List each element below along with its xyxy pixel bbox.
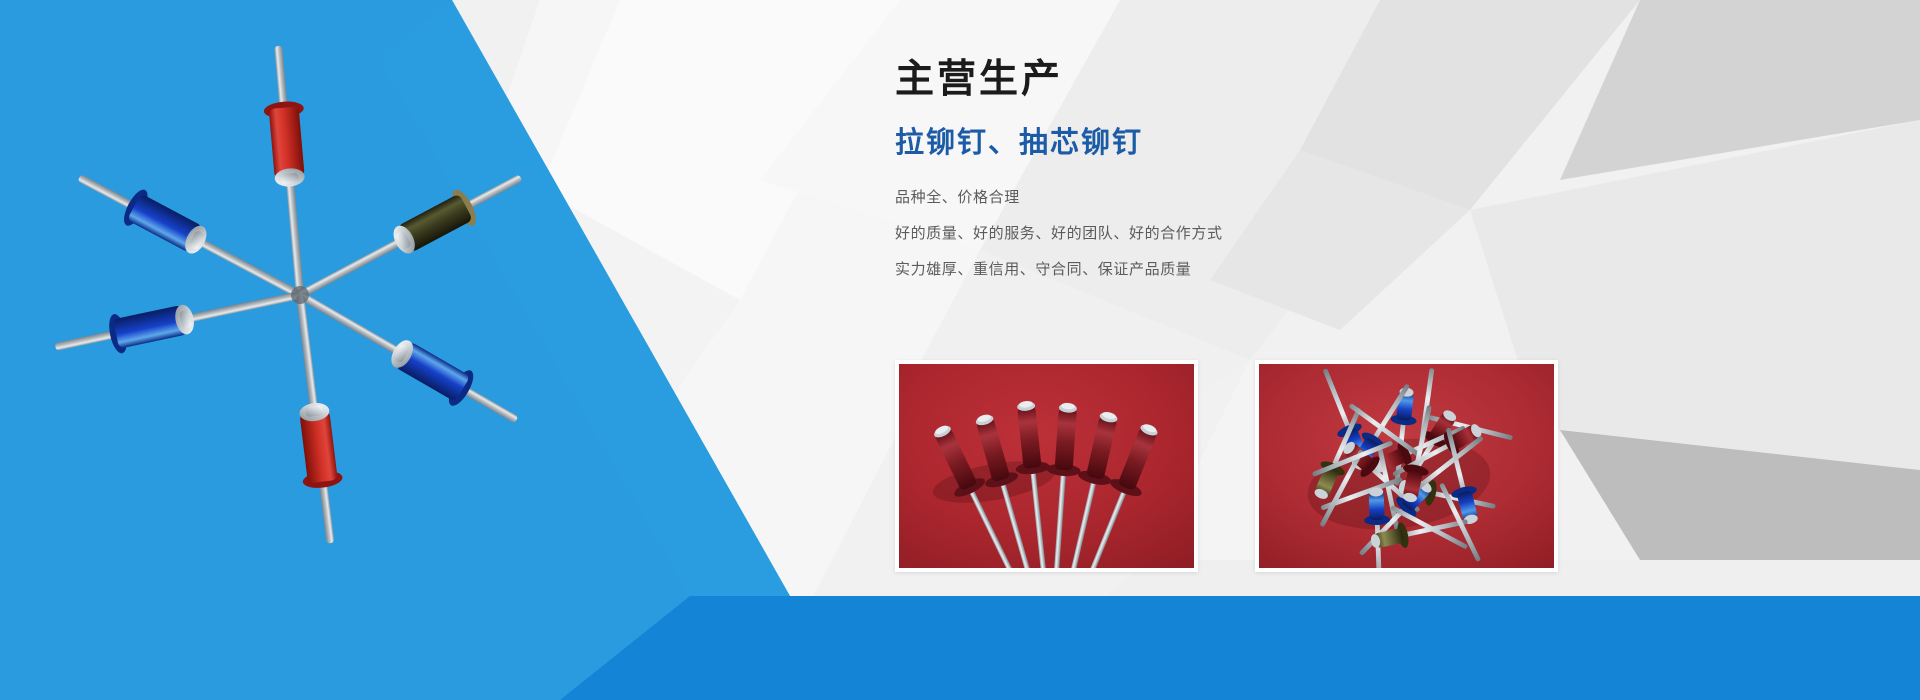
rivet-starburst-photo bbox=[0, 0, 700, 620]
rivet-top-red bbox=[258, 44, 320, 297]
banner-bullet-list: 品种全、价格合理 好的质量、好的服务、好的团队、好的合作方式 实力雄厚、重信用、… bbox=[895, 190, 1655, 277]
rivet-bottom-red bbox=[280, 293, 350, 546]
rivet-upper-left-blue bbox=[70, 160, 310, 313]
product-photo-mixed-rivets[interactable] bbox=[1255, 360, 1558, 572]
banner-headline: 主营生产 bbox=[895, 58, 1655, 103]
rivet-lower-left-blue bbox=[51, 275, 304, 366]
bullet-item-3: 实力雄厚、重信用、守合同、保证产品质量 bbox=[895, 262, 1655, 277]
photo-1-frame bbox=[899, 364, 1194, 568]
rivet-upper-right-olive bbox=[291, 160, 531, 313]
product-photo-red-rivets[interactable] bbox=[895, 360, 1198, 572]
photo-2-frame bbox=[1259, 364, 1554, 568]
banner-copy: 主营生产 拉铆钉、抽芯铆钉 品种全、价格合理 好的质量、好的服务、好的团队、好的… bbox=[895, 58, 1655, 298]
banner-subheadline: 拉铆钉、抽芯铆钉 bbox=[895, 125, 1655, 160]
bullet-item-2: 好的质量、好的服务、好的团队、好的合作方式 bbox=[895, 226, 1655, 241]
hero-banner: 主营生产 拉铆钉、抽芯铆钉 品种全、价格合理 好的质量、好的服务、好的团队、好的… bbox=[0, 0, 1920, 700]
bullet-item-1: 品种全、价格合理 bbox=[895, 190, 1655, 205]
